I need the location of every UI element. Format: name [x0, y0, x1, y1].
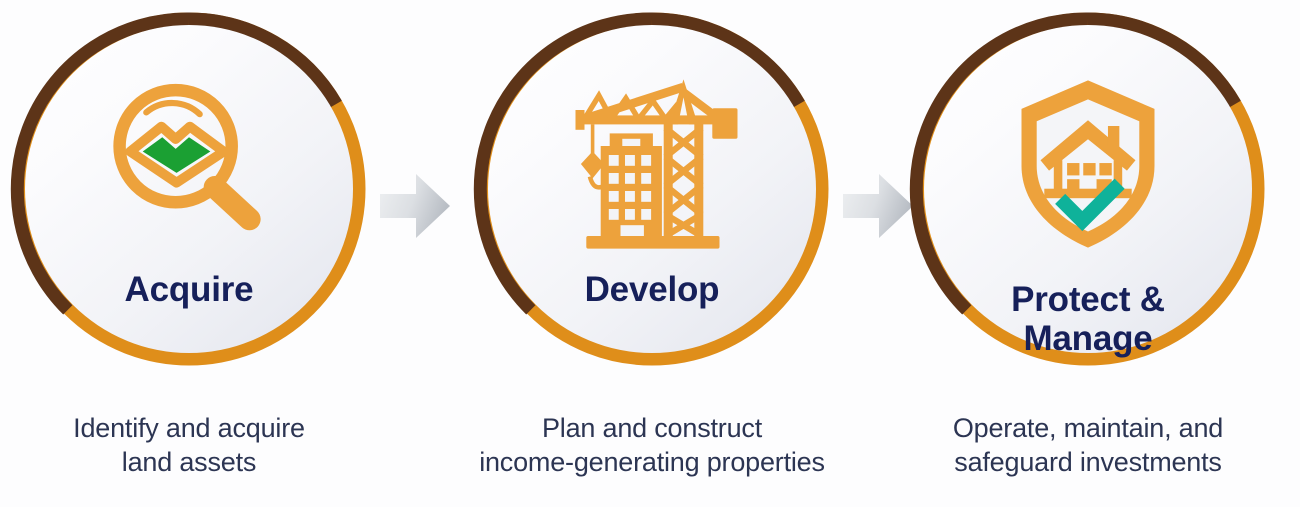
- step-title-line: Acquire: [125, 270, 254, 309]
- process-step-protect-manage[interactable]: Protect & Manage Operate, maintain, and …: [873, 0, 1300, 507]
- caption-line-2: safeguard investments: [873, 446, 1300, 480]
- process-step-acquire[interactable]: Acquire Identify and acquire land assets: [0, 0, 404, 507]
- step-caption-develop: Plan and construct income-generating pro…: [437, 412, 867, 480]
- caption-line-1: Plan and construct: [542, 413, 762, 443]
- step-title-acquire: Acquire: [12, 270, 366, 309]
- shield-house-check-icon: [911, 74, 1265, 254]
- step-title-line: Manage: [1023, 319, 1152, 358]
- step-circle-develop[interactable]: Develop: [475, 12, 829, 366]
- step-circle-protect-manage[interactable]: Protect & Manage: [911, 12, 1265, 366]
- step-title-line: Protect &: [1011, 280, 1165, 319]
- step-caption-acquire: Identify and acquire land assets: [0, 412, 404, 480]
- construction-crane-icon: [475, 74, 829, 254]
- process-flow-diagram: Acquire Identify and acquire land assets: [0, 0, 1300, 507]
- caption-line-1: Identify and acquire: [73, 413, 305, 443]
- step-title-line: Develop: [585, 270, 720, 309]
- caption-line-2: land assets: [0, 446, 404, 480]
- magnifier-land-icon: [12, 74, 366, 254]
- caption-line-1: Operate, maintain, and: [953, 413, 1223, 443]
- step-title-protect-manage: Protect & Manage: [911, 280, 1265, 358]
- process-step-develop[interactable]: Develop Plan and construct income-genera…: [437, 0, 867, 507]
- step-title-develop: Develop: [475, 270, 829, 309]
- step-circle-acquire[interactable]: Acquire: [12, 12, 366, 366]
- caption-line-2: income-generating properties: [437, 446, 867, 480]
- step-caption-protect-manage: Operate, maintain, and safeguard investm…: [873, 412, 1300, 480]
